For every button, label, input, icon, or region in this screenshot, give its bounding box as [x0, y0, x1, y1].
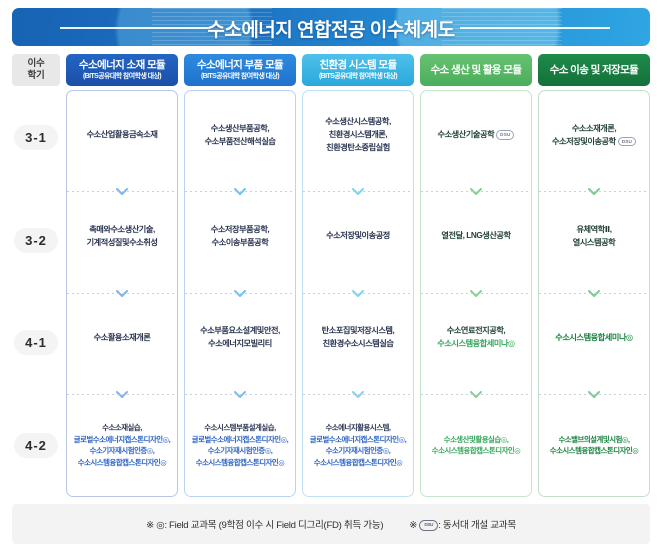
course-name: 수소저장및이송공정: [326, 231, 390, 240]
dsu-badge-icon: DSU: [618, 137, 636, 147]
module-subtitle: (BITS공유대학 참여학생 대상): [83, 73, 161, 81]
course-name: 수소에너지활용시스템,: [325, 423, 390, 432]
course-line: 글로벌수소에너지캡스톤디자인◎,: [74, 434, 171, 445]
semester-header-line1: 이수: [28, 58, 45, 70]
course-line: 수소에너지모빌리티: [200, 337, 280, 350]
course-line: 수소산업활용금속소재: [87, 128, 158, 141]
course-name: 수소연료전지공학,: [447, 326, 506, 335]
course-list: 수소저장부품공학,수소이송부품공학: [211, 223, 270, 249]
module-title: 수소에너지 부품 모듈: [197, 59, 283, 71]
course-list: 수소에너지활용시스템,글로벌수소에너지캡스톤디자인◎,수소기자재시험인증◎,수소…: [310, 422, 407, 468]
course-name: 수소소재개론,: [572, 124, 616, 133]
course-name: 친환경수소시스템실습: [323, 339, 394, 348]
course-line: 친환경시스템개론,: [325, 128, 391, 141]
course-name: 글로벌수소에너지캡스톤디자인◎,: [192, 435, 289, 444]
module-title: 수소 이송 및 저장모듈: [550, 64, 639, 76]
module-column-production[interactable]: 수소 생산 및 활용 모듈수소생산기술공학DSU열전달, LNG생산공학수소연료…: [420, 54, 532, 497]
course-line: 글로벌수소에너지캡스톤디자인◎,: [310, 434, 407, 445]
course-line: 수소생산시스템공학,: [325, 115, 391, 128]
course-name: 글로벌수소에너지캡스톤디자인◎,: [74, 435, 171, 444]
course-line: 수소생산부품공학,: [205, 122, 276, 135]
course-list: 수소시스템부품설계실습,글로벌수소에너지캡스톤디자인◎,수소기자재시험인증◎,수…: [192, 422, 289, 468]
course-line: 수소시스템융합캡스톤디자인◎: [310, 457, 407, 468]
course-cell[interactable]: 수소저장및이송공정: [303, 192, 413, 293]
course-list: 수소부품요소설계및안전,수소에너지모빌리티: [200, 324, 280, 350]
course-line: 수소활용소재개론: [94, 331, 151, 344]
course-name: 수소이송부품공학: [212, 238, 269, 247]
course-list: 수소산업활용금속소재: [87, 128, 158, 141]
module-subtitle: (BITS공유대학 참여학생 대상): [319, 73, 397, 81]
semester-label: 3-2: [14, 228, 58, 253]
course-line: 수소저장부품공학,: [211, 223, 270, 236]
course-name: 수소부품전산해석실습: [205, 137, 276, 146]
course-cell[interactable]: 수소시스템융합세미나◎: [539, 294, 649, 395]
course-list: 수소소재실습,글로벌수소에너지캡스톤디자인◎,수소기자재시험인증◎,수소시스템융…: [74, 422, 171, 468]
course-cell[interactable]: 수소시스템부품설계실습,글로벌수소에너지캡스톤디자인◎,수소기자재시험인증◎,수…: [185, 395, 295, 496]
course-cell[interactable]: 열전달, LNG생산공학: [421, 192, 531, 293]
course-list: 수소소재개론,수소저장및이송공학DSU: [552, 122, 636, 148]
semester-header-line2: 학기: [28, 70, 45, 82]
course-line: 수소부품요소설계및안전,: [200, 324, 280, 337]
module-title: 친환경 시스템 모듈: [319, 59, 396, 71]
course-list: 열전달, LNG생산공학: [441, 229, 510, 242]
course-name: 수소기자재시험인증◎,: [208, 446, 273, 455]
course-list: 촉매와수소생산기술,기계적성질및수소취성: [87, 223, 158, 249]
semester-label: 3-1: [14, 125, 58, 150]
course-line: 수소부품전산해석실습: [205, 135, 276, 148]
course-list: 수소생산시스템공학,친환경시스템개론,친환경탄소중립실험: [325, 115, 391, 154]
course-line: 수소시스템융합캡스톤디자인◎: [192, 457, 289, 468]
course-name: 친환경탄소중립실험: [326, 143, 390, 152]
module-header-parts[interactable]: 수소에너지 부품 모듈(BITS공유대학 참여학생 대상): [184, 54, 296, 86]
course-list: 탄소포집및저장시스템,친환경수소시스템실습: [322, 324, 395, 350]
course-cell[interactable]: 유체역학Ⅱ,열시스템공학: [539, 192, 649, 293]
course-list: 수소활용소재개론: [94, 331, 151, 344]
legend-field-course: ※ ◎: Field 교과목 (9학점 이수 시 Field 디그리(FD) 취…: [146, 517, 383, 531]
course-name: 열전달, LNG생산공학: [441, 231, 510, 240]
module-header-production[interactable]: 수소 생산 및 활용 모듈: [420, 54, 532, 86]
curriculum-grid: 이수 학기 3-13-24-14-2 수소에너지 소재 모듈(BITS공유대학 …: [12, 54, 650, 497]
course-cell[interactable]: 수소연료전지공학,수소시스템융합세미나◎: [421, 294, 531, 395]
course-line: 수소밸브의설계및시험◎,: [550, 434, 639, 445]
course-name: 수소시스템융합캡스톤디자인◎: [550, 446, 639, 455]
course-line: 수소저장및이송공학DSU: [552, 135, 636, 148]
course-line: 탄소포집및저장시스템,: [322, 324, 395, 337]
course-list: 수소연료전지공학,수소시스템융합세미나◎: [437, 324, 515, 350]
module-body-material: 수소산업활용금속소재촉매와수소생산기술,기계적성질및수소취성수소활용소재개론수소…: [66, 90, 178, 497]
course-name: 수소소재실습,: [102, 423, 142, 432]
semester-label: 4-2: [14, 433, 58, 458]
course-name: 수소저장부품공학,: [211, 225, 270, 234]
course-cell[interactable]: 수소저장부품공학,수소이송부품공학: [185, 192, 295, 293]
course-name: 열시스템공학: [573, 238, 616, 247]
module-body-transport-storage: 수소소재개론,수소저장및이송공학DSU유체역학Ⅱ,열시스템공학수소시스템융합세미…: [538, 90, 650, 497]
module-header-material[interactable]: 수소에너지 소재 모듈(BITS공유대학 참여학생 대상): [66, 54, 178, 86]
legend-footer: ※ ◎: Field 교과목 (9학점 이수 시 Field 디그리(FD) 취…: [12, 504, 650, 544]
course-name: 수소시스템융합캡스톤디자인◎: [314, 458, 403, 467]
semester-column-header: 이수 학기: [12, 54, 60, 86]
course-cell[interactable]: 수소소재실습,글로벌수소에너지캡스톤디자인◎,수소기자재시험인증◎,수소시스템융…: [67, 395, 177, 496]
module-body-eco-system: 수소생산시스템공학,친환경시스템개론,친환경탄소중립실험수소저장및이송공정탄소포…: [302, 90, 414, 497]
course-line: 열시스템공학: [573, 236, 616, 249]
course-line: 수소생산기술공학DSU: [438, 128, 515, 141]
course-name: 기계적성질및수소취성: [87, 238, 158, 247]
course-line: 수소연료전지공학,: [437, 324, 515, 337]
semester-list: 3-13-24-14-2: [12, 86, 60, 497]
course-line: 수소소재실습,: [74, 422, 171, 433]
semester-label: 4-1: [14, 330, 58, 355]
course-list: 유체역학Ⅱ,열시스템공학: [573, 223, 616, 249]
module-column-eco-system[interactable]: 친환경 시스템 모듈(BITS공유대학 참여학생 대상)수소생산시스템공학,친환…: [302, 54, 414, 497]
course-cell[interactable]: 촉매와수소생산기술,기계적성질및수소취성: [67, 192, 177, 293]
title-banner: 수소에너지 연합전공 이수체계도: [12, 8, 650, 46]
module-subtitle: (BITS공유대학 참여학생 대상): [201, 73, 279, 81]
module-body-production: 수소생산기술공학DSU열전달, LNG생산공학수소연료전지공학,수소시스템융합세…: [420, 90, 532, 497]
course-list: 수소생산기술공학DSU: [438, 128, 515, 141]
course-list: 수소저장및이송공정: [326, 229, 390, 242]
course-cell[interactable]: 탄소포집및저장시스템,친환경수소시스템실습: [303, 294, 413, 395]
course-name: 수소생산부품공학,: [211, 124, 270, 133]
semester-cell: 4-2: [12, 394, 60, 497]
course-line: 수소기자재시험인증◎,: [192, 445, 289, 456]
course-name: 수소밸브의설계및시험◎,: [558, 435, 629, 444]
module-column-material[interactable]: 수소에너지 소재 모듈(BITS공유대학 참여학생 대상)수소산업활용금속소재촉…: [66, 54, 178, 497]
course-line: 수소시스템융합세미나◎: [555, 331, 633, 344]
course-name: 수소생산시스템공학,: [325, 117, 391, 126]
course-line: 수소시스템융합캡스톤디자인◎: [432, 445, 521, 456]
course-line: 수소시스템융합캡스톤디자인◎: [550, 445, 639, 456]
dsu-badge-icon: DSU: [419, 520, 438, 530]
course-cell[interactable]: 수소부품요소설계및안전,수소에너지모빌리티: [185, 294, 295, 395]
course-name: 수소시스템융합세미나◎: [437, 339, 515, 348]
course-name: 수소에너지모빌리티: [208, 339, 272, 348]
legend-dsu-suffix: : 동서대 개설 교과목: [438, 520, 516, 531]
course-cell[interactable]: 수소에너지활용시스템,글로벌수소에너지캡스톤디자인◎,수소기자재시험인증◎,수소…: [303, 395, 413, 496]
course-list: 수소생산및활용실습◎,수소시스템융합캡스톤디자인◎: [432, 434, 521, 457]
course-line: 수소생산및활용실습◎,: [432, 434, 521, 445]
course-line: 친환경탄소중립실험: [325, 141, 391, 154]
course-cell[interactable]: 수소활용소재개론: [67, 294, 177, 395]
course-name: 수소시스템융합캡스톤디자인◎: [432, 446, 521, 455]
page-title: 수소에너지 연합전공 이수체계도: [12, 15, 650, 42]
semester-cell: 4-1: [12, 292, 60, 395]
course-name: 수소시스템융합캡스톤디자인◎: [196, 458, 285, 467]
module-header-transport-storage[interactable]: 수소 이송 및 저장모듈: [538, 54, 650, 86]
curriculum-diagram: 수소에너지 연합전공 이수체계도 이수 학기 3-13-24-14-2 수소에너…: [0, 0, 662, 556]
course-name: 수소생산및활용실습◎,: [444, 435, 509, 444]
course-line: 기계적성질및수소취성: [87, 236, 158, 249]
course-cell[interactable]: 수소생산시스템공학,친환경시스템개론,친환경탄소중립실험: [303, 91, 413, 192]
course-line: 수소저장및이송공정: [326, 229, 390, 242]
course-line: 유체역학Ⅱ,: [573, 223, 616, 236]
course-name: 수소산업활용금속소재: [87, 130, 158, 139]
course-cell[interactable]: 수소소재개론,수소저장및이송공학DSU: [539, 91, 649, 192]
module-header-eco-system[interactable]: 친환경 시스템 모듈(BITS공유대학 참여학생 대상): [302, 54, 414, 86]
course-name: 수소시스템융합캡스톤디자인◎: [78, 458, 167, 467]
course-name: 수소저장및이송공학: [552, 137, 616, 146]
course-line: 수소에너지활용시스템,: [310, 422, 407, 433]
course-name: 글로벌수소에너지캡스톤디자인◎,: [310, 435, 407, 444]
course-line: 수소기자재시험인증◎,: [74, 445, 171, 456]
course-name: 수소기자재시험인증◎,: [326, 446, 391, 455]
course-name: 수소시스템융합세미나◎: [555, 333, 633, 342]
course-line: 수소소재개론,: [552, 122, 636, 135]
module-body-parts: 수소생산부품공학,수소부품전산해석실습수소저장부품공학,수소이송부품공학수소부품…: [184, 90, 296, 497]
course-name: 수소부품요소설계및안전,: [200, 326, 280, 335]
course-line: 수소이송부품공학: [211, 236, 270, 249]
course-line: 수소기자재시험인증◎,: [310, 445, 407, 456]
module-title: 수소 생산 및 활용 모듈: [431, 64, 522, 76]
dsu-badge-icon: DSU: [496, 130, 514, 140]
course-name: 수소기자재시험인증◎,: [90, 446, 155, 455]
course-cell[interactable]: 수소산업활용금속소재: [67, 91, 177, 192]
course-line: 촉매와수소생산기술,: [87, 223, 158, 236]
course-cell[interactable]: 수소밸브의설계및시험◎,수소시스템융합캡스톤디자인◎: [539, 395, 649, 496]
course-name: 수소활용소재개론: [94, 333, 151, 342]
legend-dsu-course: ※ DSU: 동서대 개설 교과목: [409, 517, 516, 531]
course-line: 수소시스템융합캡스톤디자인◎: [74, 457, 171, 468]
course-line: 수소시스템융합세미나◎: [437, 337, 515, 350]
course-line: 수소시스템부품설계실습,: [192, 422, 289, 433]
course-name: 탄소포집및저장시스템,: [322, 326, 395, 335]
course-list: 수소밸브의설계및시험◎,수소시스템융합캡스톤디자인◎: [550, 434, 639, 457]
semester-cell: 3-2: [12, 189, 60, 292]
course-cell[interactable]: 수소생산및활용실습◎,수소시스템융합캡스톤디자인◎: [421, 395, 531, 496]
legend-dsu-prefix: ※: [409, 520, 419, 531]
semester-column: 이수 학기 3-13-24-14-2: [12, 54, 60, 497]
course-list: 수소생산부품공학,수소부품전산해석실습: [205, 122, 276, 148]
course-name: 수소생산기술공학: [438, 130, 495, 139]
course-line: 글로벌수소에너지캡스톤디자인◎,: [192, 434, 289, 445]
course-cell[interactable]: 수소생산부품공학,수소부품전산해석실습: [185, 91, 295, 192]
course-line: 친환경수소시스템실습: [322, 337, 395, 350]
module-column-transport-storage[interactable]: 수소 이송 및 저장모듈수소소재개론,수소저장및이송공학DSU유체역학Ⅱ,열시스…: [538, 54, 650, 497]
course-list: 수소시스템융합세미나◎: [555, 331, 633, 344]
course-name: 친환경시스템개론,: [329, 130, 388, 139]
course-name: 수소시스템부품설계실습,: [204, 423, 275, 432]
course-name: 유체역학Ⅱ,: [576, 225, 611, 234]
semester-cell: 3-1: [12, 86, 60, 189]
course-line: 열전달, LNG생산공학: [441, 229, 510, 242]
course-cell[interactable]: 수소생산기술공학DSU: [421, 91, 531, 192]
module-column-parts[interactable]: 수소에너지 부품 모듈(BITS공유대학 참여학생 대상)수소생산부품공학,수소…: [184, 54, 296, 497]
course-name: 촉매와수소생산기술,: [89, 225, 155, 234]
module-title: 수소에너지 소재 모듈: [79, 59, 165, 71]
